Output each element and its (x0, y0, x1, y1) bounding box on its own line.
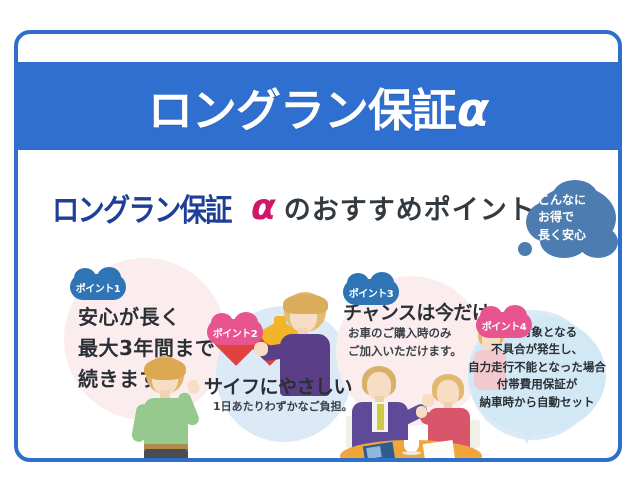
cloud-line-1: こんなに (538, 192, 614, 209)
woman-pointing-illustration (126, 356, 204, 462)
point1-badge-label: ポイント1 (76, 280, 120, 295)
point4-badge-label: ポイント4 (482, 318, 526, 333)
poster-root: ロングラン保証α ロングラン保証 α のおすすめポイント こんなに お得で 長く… (0, 0, 640, 480)
cloud-bubble-text: こんなに お得で 長く安心 (538, 192, 614, 244)
point4-line-4: 付帯費用保証が (468, 376, 606, 393)
point4-line-2: 不具合が発生し、 (468, 341, 606, 358)
point3-subtext-line-1: お車のご購入時のみ (348, 325, 462, 343)
point4-badge: ポイント4 (476, 312, 532, 338)
cloud-speech-bubble: こんなに お得で 長く安心 (526, 180, 622, 262)
point3-badge: ポイント3 (343, 279, 399, 305)
point3-badge-label: ポイント3 (349, 285, 393, 300)
subtitle-alpha: α (251, 187, 276, 228)
point2-heading: サイフにやさしい (204, 374, 352, 401)
point3-subtext-line-2: ご加入いただけます。 (348, 343, 462, 361)
subtitle-line: ロングラン保証 α のおすすめポイント (52, 186, 522, 228)
point1-heading-line-1: 安心が長く (78, 302, 215, 333)
poster-title-main: ロングラン保証 (148, 84, 456, 137)
subtitle-rest: のおすすめポイント (284, 188, 536, 227)
cloud-line-3: 長く安心 (538, 227, 614, 244)
poster-title-alpha: α (456, 83, 488, 138)
point1-badge: ポイント1 (70, 274, 126, 300)
title-banner: ロングラン保証α (18, 62, 618, 150)
poster-frame: ロングラン保証α ロングラン保証 α のおすすめポイント こんなに お得で 長く… (14, 30, 622, 462)
poster-title: ロングラン保証α (148, 74, 488, 139)
point4-line-3: 自力走行不能となった場合 (468, 359, 606, 376)
point2-badge: ポイント2 (207, 319, 263, 345)
point4-balloon-tail (516, 418, 538, 444)
sales-meeting-illustration (336, 364, 486, 462)
point2-subtext: 1日あたりわずかなご負担。 (213, 400, 353, 414)
cloud-tail-dot (518, 242, 532, 256)
cloud-line-2: お得で (538, 209, 614, 226)
point3-subtext: お車のご購入時のみ ご加入いただけます。 (348, 325, 462, 361)
point4-line-5: 納車時から自動セット (468, 394, 606, 411)
subtitle-brand: ロングラン保証 (52, 185, 231, 230)
point2-badge-label: ポイント2 (213, 325, 257, 340)
